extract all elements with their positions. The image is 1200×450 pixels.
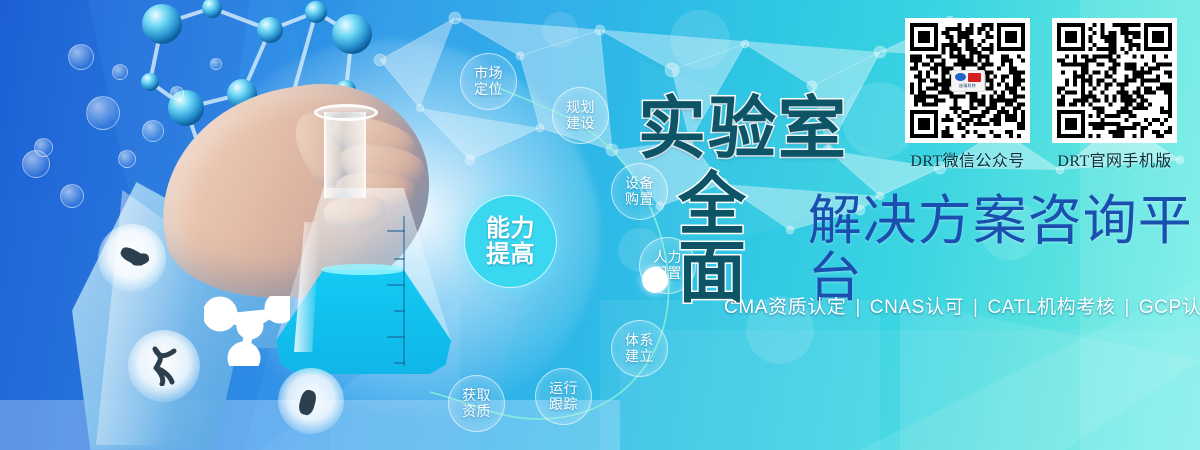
step-bubble-huoqu[interactable]: 获取 资质 xyxy=(448,375,505,432)
qr-code-group: 迪瑞科特 DRT微信公众号 DRT官网手机版 xyxy=(905,18,1177,171)
step-line1: 能力 xyxy=(486,216,535,242)
step-line2: 资质 xyxy=(462,404,491,419)
bokeh-bubble xyxy=(170,86,184,100)
step-line1: 规划 xyxy=(566,100,595,115)
step-bubble-tixi[interactable]: 体系 建立 xyxy=(611,320,668,377)
step-line2: 跟踪 xyxy=(549,397,578,412)
erlenmeyer-flask-icon xyxy=(276,112,451,374)
brand-logo-icon: 迪瑞科特 xyxy=(951,70,985,92)
lab-solution-banner: 市场 定位 规划 建设 设备 购置 人力 配置 体系 建立 运行 跟踪 获取 资… xyxy=(0,0,1200,450)
step-line1: 获取 xyxy=(462,388,491,403)
bokeh-bubble xyxy=(210,58,222,70)
bokeh-bubble xyxy=(142,120,164,142)
step-line1: 体系 xyxy=(625,333,654,348)
step-line2: 建设 xyxy=(566,116,595,131)
cert-item: CATL机构考核 xyxy=(987,297,1115,318)
step-bubble-nengli-highlighted[interactable]: 能力 提高 xyxy=(464,195,557,288)
headline-emphasis: 全面 xyxy=(678,171,806,307)
bokeh-bubble xyxy=(22,150,50,178)
bokeh-bubble xyxy=(112,64,128,80)
chromosome-icon xyxy=(150,346,180,386)
cert-separator: | xyxy=(970,297,982,318)
step-bubble-yunxing[interactable]: 运行 跟踪 xyxy=(535,368,592,425)
bokeh-bubble xyxy=(68,44,94,70)
qr-caption-wechat: DRT微信公众号 xyxy=(910,147,1024,171)
cert-item: GCP认证 xyxy=(1139,297,1200,318)
cert-item: CMA资质认定 xyxy=(724,297,846,318)
qr-code-wechat[interactable]: 迪瑞科特 DRT微信公众号 xyxy=(905,18,1030,171)
bokeh-bubble xyxy=(118,150,136,168)
step-line1: 市场 xyxy=(474,66,503,81)
qr-caption-website: DRT官网手机版 xyxy=(1057,147,1171,171)
headline-line2: 全面 解决方案咨询平台 xyxy=(638,171,1198,307)
qr-code-image-wechat[interactable]: 迪瑞科特 xyxy=(905,18,1030,143)
step-line2: 定位 xyxy=(474,82,503,97)
step-line2: 建立 xyxy=(625,349,654,364)
step-bubble-shichang[interactable]: 市场 定位 xyxy=(460,53,517,110)
step-line2: 提高 xyxy=(486,242,535,268)
headline-subtitle: 解决方案咨询平台 xyxy=(808,193,1198,307)
certification-list: CMA资质认定 | CNAS认可 | CATL机构考核 | GCP认证 | 6S… xyxy=(724,292,1200,319)
cert-item: CNAS认可 xyxy=(870,297,964,318)
qr-code-image-website[interactable] xyxy=(1052,18,1177,143)
white-molecule-icon xyxy=(204,296,290,366)
cert-separator: | xyxy=(852,297,864,318)
cert-separator: | xyxy=(1121,297,1133,318)
bullet-dot-icon xyxy=(642,267,668,293)
logo-text: 迪瑞科特 xyxy=(959,83,976,89)
step-line1: 运行 xyxy=(549,381,578,396)
bokeh-bubble xyxy=(60,184,84,208)
qr-code-website[interactable]: DRT官网手机版 xyxy=(1052,18,1177,171)
bokeh-bubble xyxy=(86,96,120,130)
step-bubble-guihua[interactable]: 规划 建设 xyxy=(552,87,609,144)
